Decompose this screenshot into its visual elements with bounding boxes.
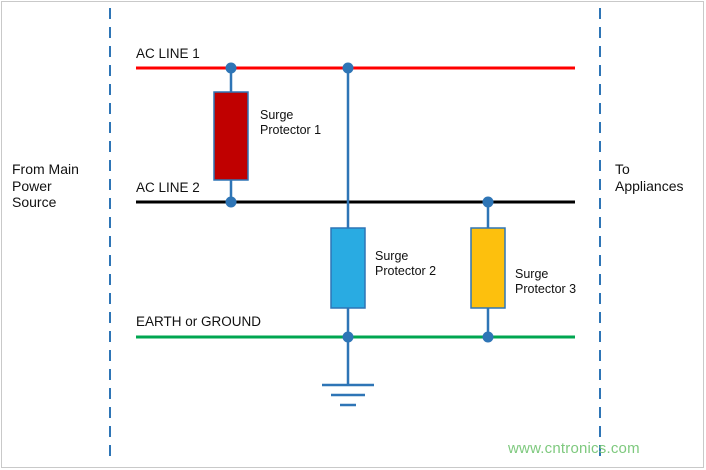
watermark-text: www.cntronics.com [508, 440, 640, 457]
junction-dot-ac1-p1 [226, 63, 237, 74]
surge-protector-2-body [331, 228, 365, 308]
ac-line-2-label: AC LINE 2 [136, 180, 200, 196]
surge-protector-3-label: Surge Protector 3 [515, 267, 576, 297]
to-appliances-label: To Appliances [615, 161, 684, 194]
junction-dot-ac2-p3 [483, 197, 494, 208]
junction-dot-ac2-p1 [226, 197, 237, 208]
surge-protector-1-body [214, 92, 248, 180]
surge-protector-1-label: Surge Protector 1 [260, 108, 321, 138]
surge-protector-2-label: Surge Protector 2 [375, 249, 436, 279]
junction-dot-gnd-p3 [483, 332, 494, 343]
junction-dot-ac1-p2 [343, 63, 354, 74]
surge-protector-3-body [471, 228, 505, 308]
junction-dot-gnd-p2 [343, 332, 354, 343]
from-main-power-source-label: From Main Power Source [12, 161, 79, 211]
ac-line-1-label: AC LINE 1 [136, 46, 200, 62]
diagram-svg [0, 0, 706, 470]
diagram-canvas: AC LINE 1 AC LINE 2 EARTH or GROUND From… [0, 0, 706, 470]
earth-ground-label: EARTH or GROUND [136, 314, 261, 330]
